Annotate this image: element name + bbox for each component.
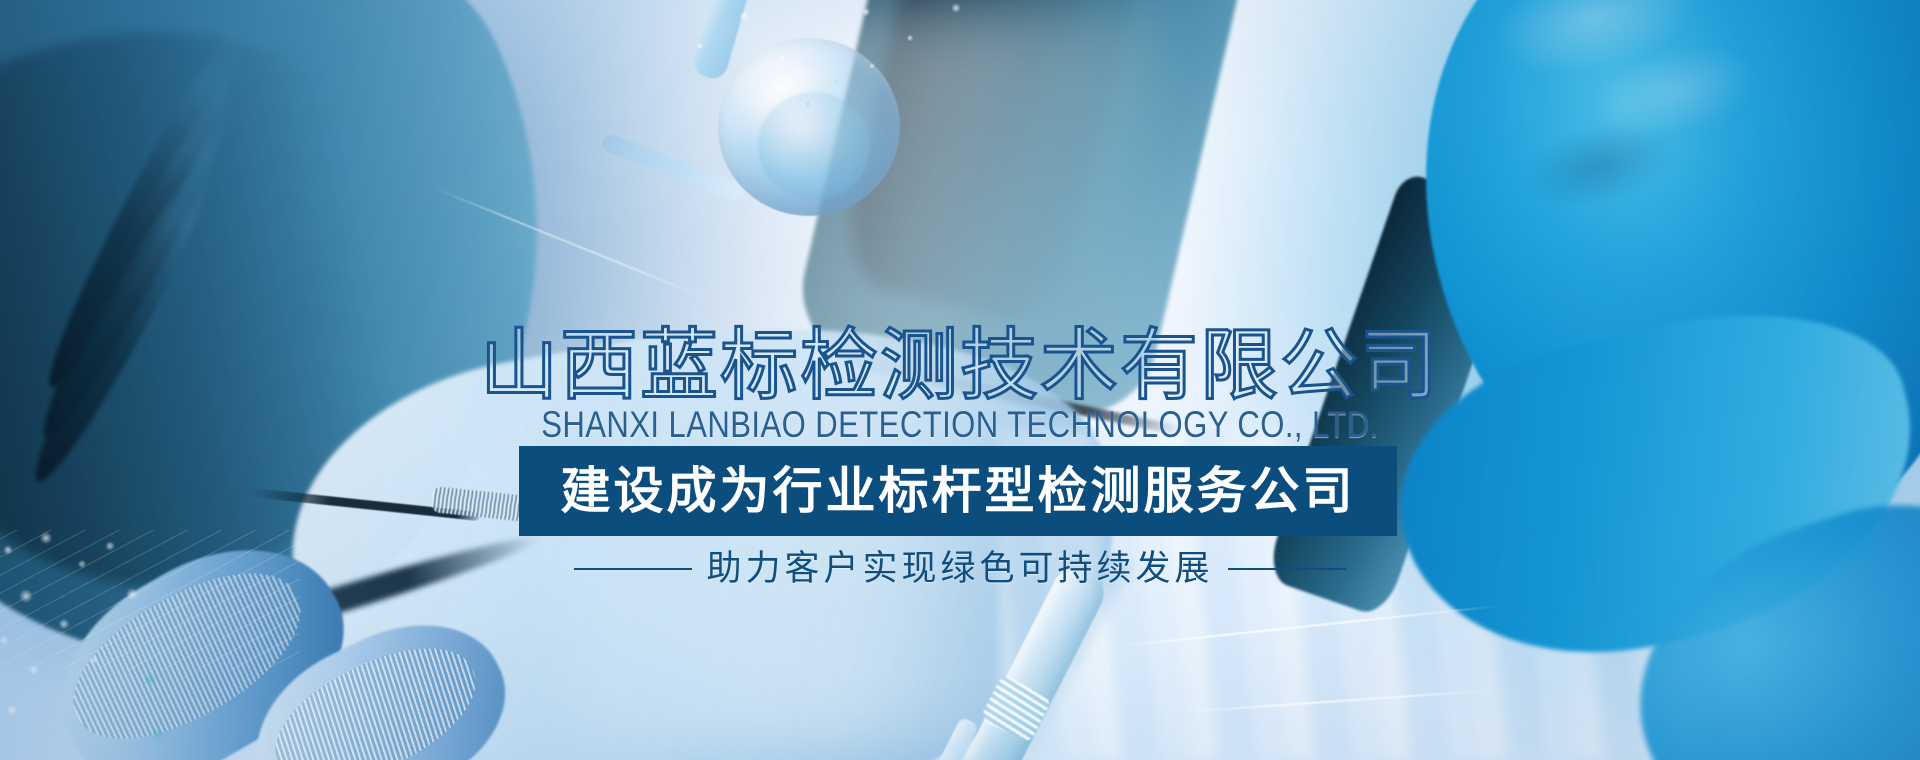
- company-name-english: SHANXI LANBIAO DETECTION TECHNOLOGY CO.,…: [154, 404, 1767, 446]
- slogan-text: 建设成为行业标杆型检测服务公司: [561, 463, 1356, 519]
- slogan-band: 建设成为行业标杆型检测服务公司: [519, 446, 1397, 536]
- tagline-text: 助力客户实现绿色可持续发展: [706, 548, 1213, 590]
- tagline-row: 助力客户实现绿色可持续发展: [0, 548, 1920, 590]
- hero-banner: 山西蓝标检测技术有限公司 SHANXI LANBIAO DETECTION TE…: [0, 0, 1920, 760]
- tagline-rule-left: [574, 568, 692, 570]
- tagline-rule-right: [1228, 568, 1346, 570]
- company-name-chinese: 山西蓝标检测技术有限公司: [0, 322, 1920, 408]
- banner-text-content: 山西蓝标检测技术有限公司 SHANXI LANBIAO DETECTION TE…: [0, 0, 1920, 760]
